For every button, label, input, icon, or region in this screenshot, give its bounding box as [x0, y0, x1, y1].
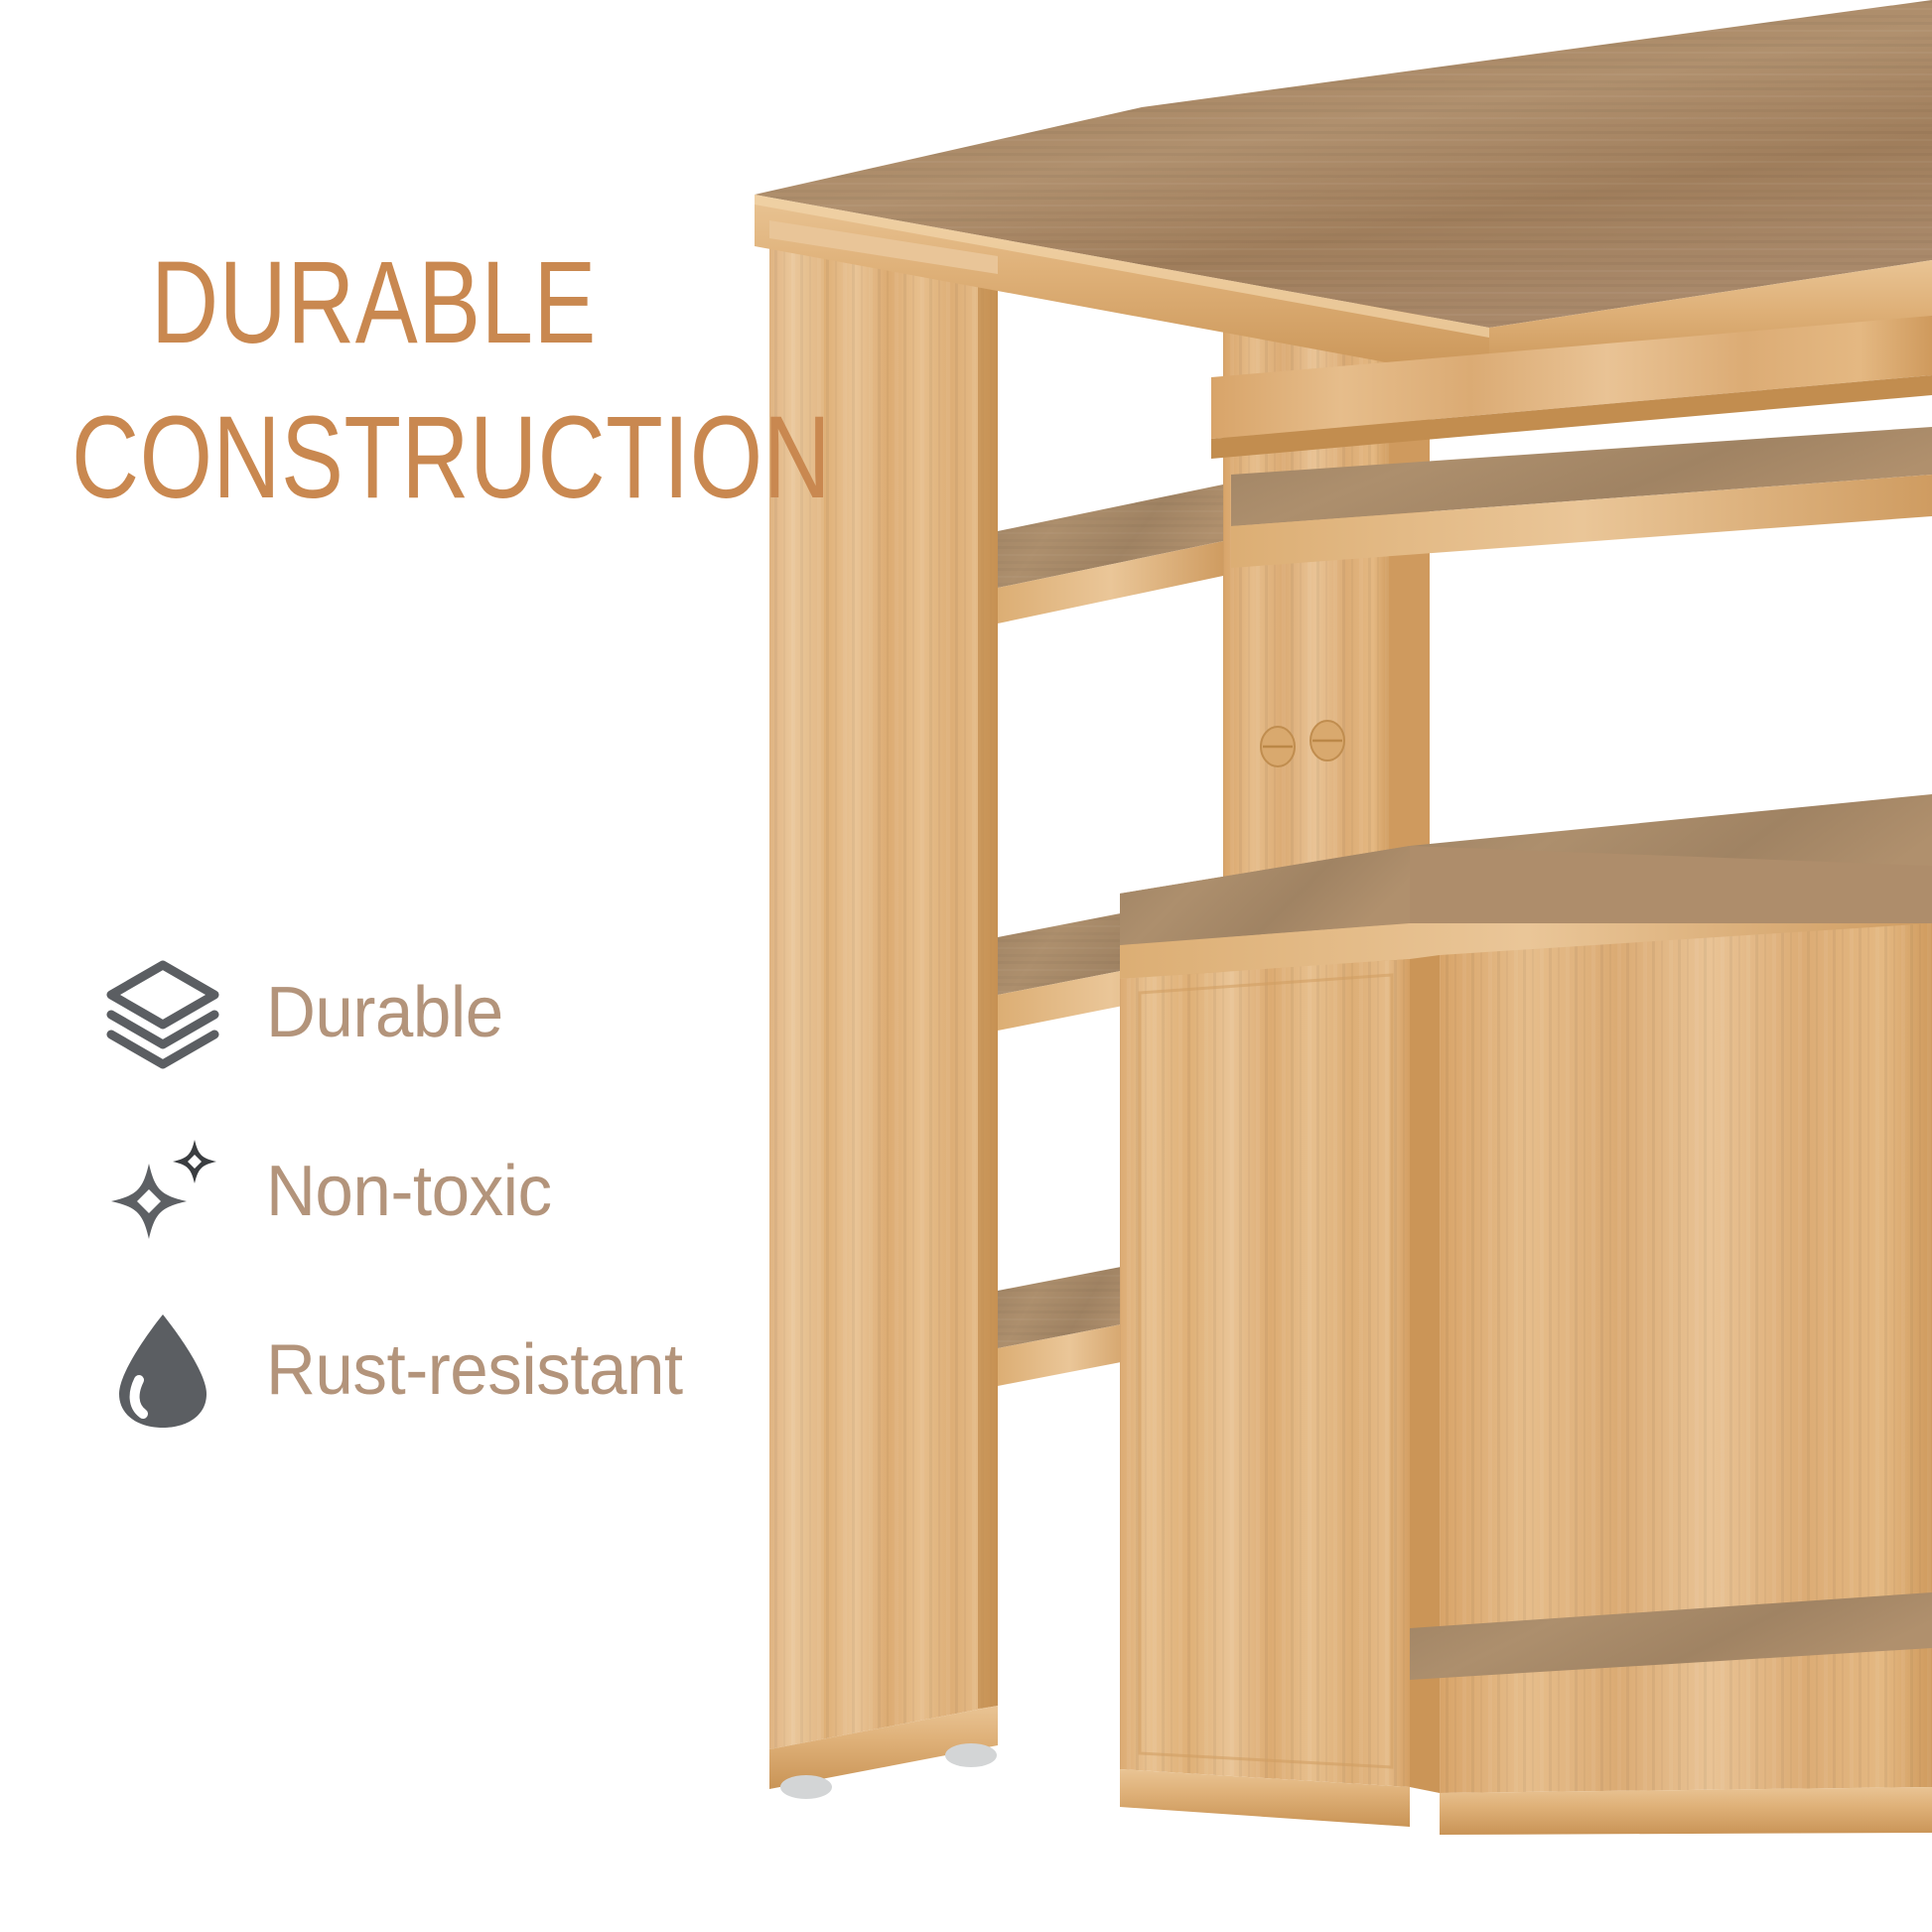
sparkle-icon: [97, 1126, 228, 1257]
middle-shelf-upper: [998, 484, 1223, 623]
product-feature-banner: DURABLE CONSTRUCTION Durable: [0, 0, 1932, 1932]
bottom-shelf: [998, 1263, 1142, 1386]
feature-label-rust-resistant: Rust-resistant: [266, 1329, 683, 1411]
cabinet-right-side: [1440, 923, 1932, 1835]
feature-label-durable: Durable: [266, 972, 503, 1053]
headline-line-2: CONSTRUCTION: [71, 381, 866, 536]
feature-label-non-toxic: Non-toxic: [266, 1151, 552, 1232]
cabinet-top-surface: [1120, 794, 1932, 979]
interior-back-strip: [998, 298, 1122, 1003]
layers-icon: [97, 947, 228, 1078]
tabletop-apron: [1211, 316, 1932, 459]
page-title: DURABLE CONSTRUCTION: [151, 226, 866, 536]
water-drop-icon: [97, 1305, 228, 1436]
upper-rear-shelf: [1231, 427, 1932, 568]
back-upright-panel: [1223, 294, 1430, 1003]
cabinet-front-panel: [1120, 955, 1440, 1827]
right-rear-shelf-strip: [1410, 1592, 1932, 1680]
tabletop: [755, 0, 1932, 401]
headline-line-1: DURABLE: [151, 237, 597, 368]
feature-item-non-toxic: Non-toxic: [97, 1102, 951, 1281]
feature-list: Durable Non-toxic Rust-resistant: [97, 923, 951, 1459]
feature-item-durable: Durable: [97, 923, 951, 1102]
feature-item-rust-resistant: Rust-resistant: [97, 1281, 951, 1459]
middle-shelf-lower: [998, 894, 1223, 1031]
